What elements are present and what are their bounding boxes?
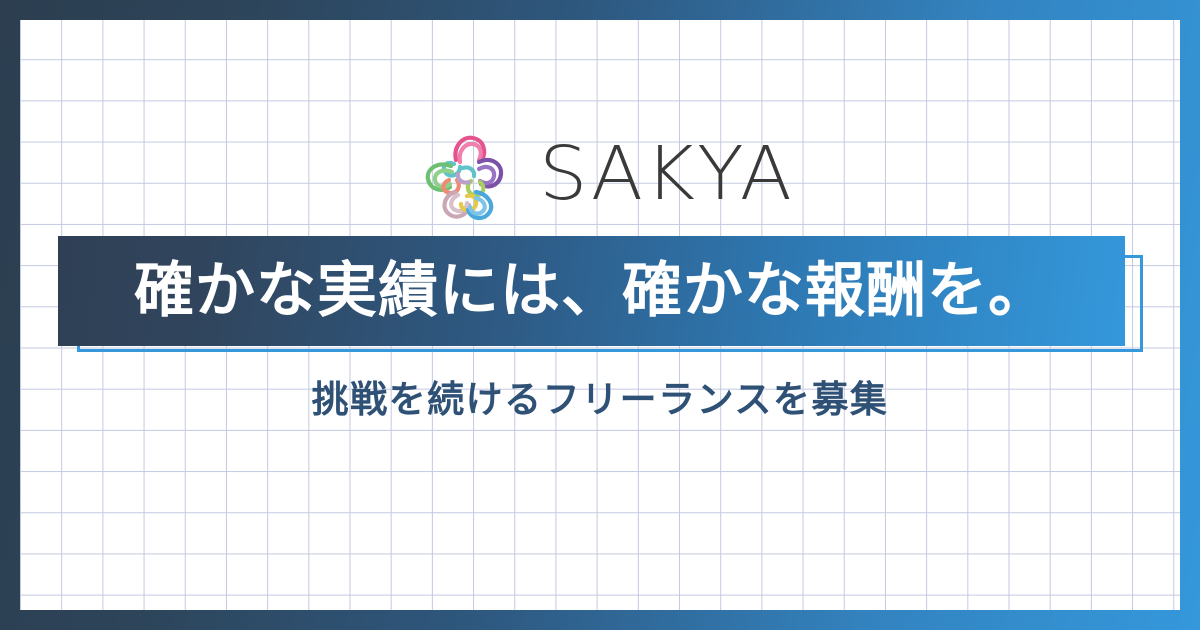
brand-logo-block: SAKYA: [0, 118, 1200, 230]
ogp-hero-card: SAKYA 確かな実績には、確かな報酬を。 挑戦を続けるフリーランスを募集: [0, 0, 1200, 630]
brand-wordmark: SAKYA: [539, 137, 794, 211]
headline-banner: 確かな実績には、確かな報酬を。: [58, 236, 1125, 346]
subtitle-text: 挑戦を続けるフリーランスを募集: [312, 378, 889, 421]
subtitle-block: 挑戦を続けるフリーランスを募集: [0, 378, 1200, 422]
headline-text: 確かな実績には、確かな報酬を。: [134, 261, 1049, 321]
sakya-pinwheel-logo-icon: [413, 122, 517, 226]
